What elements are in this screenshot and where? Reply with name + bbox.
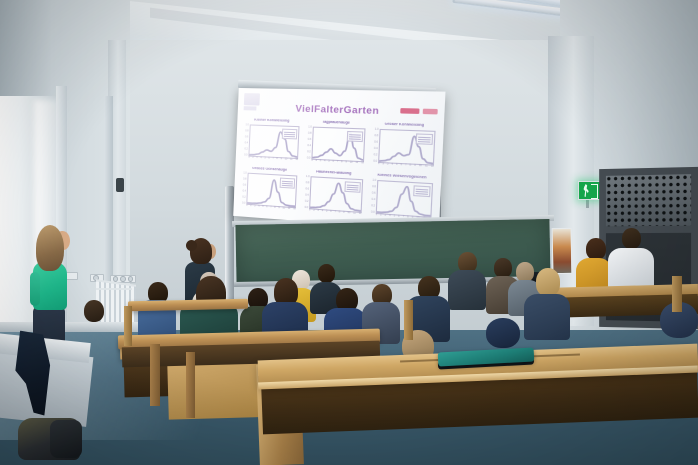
x-tick-label: 1 <box>376 214 378 217</box>
wall-poster <box>552 228 573 274</box>
chart-legend <box>281 128 297 139</box>
x-tick-label: 3 <box>387 163 389 166</box>
x-tick-label: 8 <box>341 161 343 164</box>
x-tick-label: 10 <box>285 158 288 161</box>
chart-plot-area <box>248 124 299 159</box>
y-tick-label: 0.8 <box>372 186 376 189</box>
legend-entry <box>346 187 358 188</box>
bench-back-post <box>672 276 682 312</box>
y-tick-label: 0.6 <box>305 188 309 191</box>
x-tick-label: 9 <box>343 212 345 215</box>
y-tick-label: 0.6 <box>308 139 312 142</box>
window-handle[interactable] <box>116 178 124 192</box>
x-tick-label: 7 <box>334 211 336 214</box>
x-tick-label: 9 <box>278 207 279 210</box>
x-tick-label: 5 <box>396 164 398 167</box>
x-tick-label: 3 <box>320 160 322 163</box>
x-tick-label: 2 <box>313 210 314 213</box>
x-tick-label: 4 <box>260 157 261 159</box>
x-tick-label: 1 <box>378 163 380 166</box>
x-tick-label: 10 <box>347 212 350 215</box>
y-tick-label: 0.8 <box>308 133 312 136</box>
audience-head <box>84 300 104 322</box>
legend-entry <box>415 188 427 189</box>
y-tick-label: 0.6 <box>243 184 246 187</box>
projection-screen: VielFalterGarten Kleiner Kohlweißling1.0… <box>233 88 445 232</box>
chart-panel-title: Großer Kohlweißling <box>372 122 437 128</box>
lecture-hall-photo: VielFalterGarten Kleiner Kohlweißling1.0… <box>0 0 698 465</box>
x-tick-label: 7 <box>405 164 407 167</box>
x-tick-label: 2 <box>380 214 382 217</box>
legend-entry <box>415 193 427 194</box>
x-tick-label: 2 <box>252 157 253 159</box>
y-tick-label: 0.2 <box>242 196 245 199</box>
chart-panel: Großes Ochsenauge1.00.80.60.40.20.012345… <box>239 166 298 215</box>
y-tick-label: 1.0 <box>375 129 379 132</box>
exit-door-icon <box>591 184 598 199</box>
y-tick-label: 0.4 <box>372 199 376 202</box>
y-tick-label: 0.2 <box>307 151 311 154</box>
y-tick-label: 0.6 <box>374 141 378 144</box>
x-tick-label: 2 <box>250 205 251 208</box>
bench-leg <box>186 352 195 418</box>
chart-plot-area <box>378 129 436 166</box>
sponsor-logos <box>400 108 438 114</box>
x-tick-label: 5 <box>262 206 263 209</box>
x-tick-label: 10 <box>282 207 285 210</box>
sponsor-logo-pink-icon <box>423 109 438 115</box>
legend-entry <box>283 136 294 137</box>
y-tick-label: 1.0 <box>306 176 310 179</box>
bench-back-post <box>124 306 132 346</box>
x-tick-label: 1 <box>246 205 247 208</box>
y-tick-label: 0.4 <box>245 142 248 145</box>
y-tick-label: 0.0 <box>373 160 377 163</box>
legend-entry <box>284 131 295 132</box>
y-tick-label: 1.0 <box>243 172 246 175</box>
legend-entry <box>418 139 431 140</box>
x-tick-label: 12 <box>293 208 296 211</box>
x-tick-label: 8 <box>274 207 275 210</box>
chart-panel-title: Tagpfauenauge <box>306 120 367 126</box>
y-tick-label: 0.8 <box>306 182 310 185</box>
chart-panel: Großer Kohlweißling1.00.80.60.40.20.0123… <box>370 122 437 173</box>
presenter-hair <box>36 225 64 271</box>
x-tick-label: 10 <box>350 162 353 165</box>
legend-entry <box>346 184 358 185</box>
x-tick-label: 12 <box>295 159 298 162</box>
chart-panel: Tagpfauenauge1.00.80.60.40.20.0123456789… <box>304 120 367 170</box>
y-tick-label: 0.6 <box>372 192 376 195</box>
y-tick-label: 0.0 <box>371 211 375 214</box>
legend-entry <box>281 180 292 181</box>
x-tick-label: 11 <box>290 159 293 162</box>
chart-plot-area <box>246 173 297 209</box>
chart-plot-area <box>309 176 363 213</box>
legend-entry <box>281 183 292 184</box>
x-tick-label: 11 <box>288 208 291 211</box>
y-tick-label: 0.2 <box>244 148 247 151</box>
x-tick-label: 12 <box>361 162 364 165</box>
x-tick-label: 9 <box>414 165 416 168</box>
chart-panel: Kleiner Kohlweißling1.00.80.60.40.20.012… <box>241 118 301 166</box>
audience-head <box>536 268 560 296</box>
y-tick-label: 0.8 <box>243 178 246 181</box>
x-tick-label: 7 <box>270 206 271 209</box>
bench-back-post <box>404 300 413 340</box>
x-tick-label: 12 <box>431 166 434 169</box>
y-tick-label: 0.8 <box>245 130 248 133</box>
x-tick-label: 7 <box>337 161 339 164</box>
chart-legend <box>413 185 430 197</box>
presentation-slide: VielFalterGarten Kleiner Kohlweißling1.0… <box>233 88 445 232</box>
audience-head <box>318 264 335 283</box>
y-tick-label: 1.0 <box>372 180 376 183</box>
x-tick-label: 9 <box>280 158 281 161</box>
y-tick-label: 0.6 <box>245 136 248 139</box>
presenter-arm <box>30 272 40 306</box>
y-tick-label: 0.2 <box>371 205 375 208</box>
x-tick-label: 3 <box>254 205 255 208</box>
x-tick-label: 8 <box>409 165 411 168</box>
x-tick-label: 6 <box>330 211 332 214</box>
chart-plot-area <box>311 127 365 163</box>
x-tick-label: 6 <box>266 206 267 209</box>
x-tick-label: 4 <box>324 160 326 163</box>
x-tick-label: 9 <box>345 161 347 164</box>
x-tick-label: 2 <box>315 160 317 163</box>
x-tick-label: 8 <box>276 158 277 161</box>
y-tick-label: 1.0 <box>245 124 248 127</box>
x-tick-label: 11 <box>425 165 428 168</box>
screen-stand-post <box>225 186 234 306</box>
legend-entry <box>346 189 358 190</box>
y-tick-label: 0.8 <box>375 135 379 138</box>
x-tick-label: 3 <box>256 157 257 159</box>
y-tick-label: 0.2 <box>374 154 378 157</box>
y-tick-label: 0.2 <box>305 200 309 203</box>
chart-panel-title: Kleiner Kohlweißling <box>243 118 301 124</box>
audience-head <box>494 258 512 278</box>
x-tick-label: 10 <box>419 165 422 168</box>
audience-body <box>448 270 486 310</box>
y-tick-label: 0.0 <box>244 154 247 157</box>
bench-leg <box>150 344 160 406</box>
chart-panel: Hauhechel-Bläuling1.00.80.60.40.20.01234… <box>302 170 365 221</box>
chart-legend <box>346 130 363 141</box>
running-man-icon <box>583 184 589 197</box>
legend-entry <box>415 191 427 192</box>
x-tick-label: 6 <box>400 164 402 167</box>
y-tick-label: 0.0 <box>242 202 245 205</box>
legend-entry <box>348 139 360 140</box>
sponsor-logo-red-icon <box>400 108 419 114</box>
audience-body <box>524 294 570 340</box>
chart-legend <box>415 133 433 145</box>
chart-grid: Kleiner Kohlweißling1.00.80.60.40.20.012… <box>239 118 437 225</box>
x-tick-label: 1 <box>311 160 312 163</box>
y-tick-label: 1.0 <box>308 126 312 129</box>
x-tick-label: 11 <box>355 162 358 165</box>
x-tick-label: 3 <box>384 215 386 218</box>
legend-entry <box>349 134 361 135</box>
x-tick-label: 1 <box>309 209 310 212</box>
y-tick-label: 0.4 <box>307 145 311 148</box>
x-tick-label: 7 <box>272 158 273 161</box>
chart-legend <box>344 181 360 192</box>
y-tick-label: 0.4 <box>374 148 378 151</box>
y-tick-label: 0.4 <box>305 194 309 197</box>
backpack-on-floor <box>50 420 82 458</box>
chart-x-axis: 123456789101112 <box>246 205 296 216</box>
legend-entry <box>283 134 294 135</box>
x-tick-label: 4 <box>322 210 324 213</box>
x-tick-label: 5 <box>326 210 328 213</box>
x-tick-label: 6 <box>268 158 269 161</box>
audience-head <box>486 318 520 348</box>
chart-plot-area <box>376 180 433 218</box>
chart-x-axis: 123456789101112 <box>248 157 298 167</box>
x-tick-label: 8 <box>339 211 341 214</box>
x-tick-label: 6 <box>332 161 334 164</box>
x-tick-label: 5 <box>264 157 265 160</box>
audience-head <box>586 238 606 260</box>
legend-entry <box>417 141 430 142</box>
audience-head <box>622 228 641 249</box>
y-tick-label: 0.0 <box>305 206 309 209</box>
audience-head <box>516 262 534 282</box>
x-tick-label: 5 <box>328 161 330 164</box>
legend-entry <box>349 136 361 137</box>
chart-x-axis: 123456789101112 <box>311 160 364 170</box>
x-tick-label: 11 <box>353 212 356 215</box>
legend-entry <box>281 185 292 186</box>
legend-entry <box>418 136 431 137</box>
x-tick-label: 12 <box>359 213 362 216</box>
assistant-hair-bun <box>186 240 197 251</box>
x-tick-label: 4 <box>391 164 393 167</box>
y-tick-label: 0.0 <box>307 157 311 160</box>
x-tick-label: 2 <box>382 163 384 166</box>
chart-x-axis: 123456789101112 <box>378 163 434 173</box>
rack-perforated-panel <box>606 174 691 226</box>
screen-surface: VielFalterGarten Kleiner Kohlweißling1.0… <box>233 88 445 232</box>
chart-legend <box>279 177 295 188</box>
x-tick-label: 4 <box>258 206 259 209</box>
x-tick-label: 3 <box>317 210 319 213</box>
x-tick-label: 1 <box>248 157 249 159</box>
y-tick-label: 0.4 <box>243 190 246 193</box>
